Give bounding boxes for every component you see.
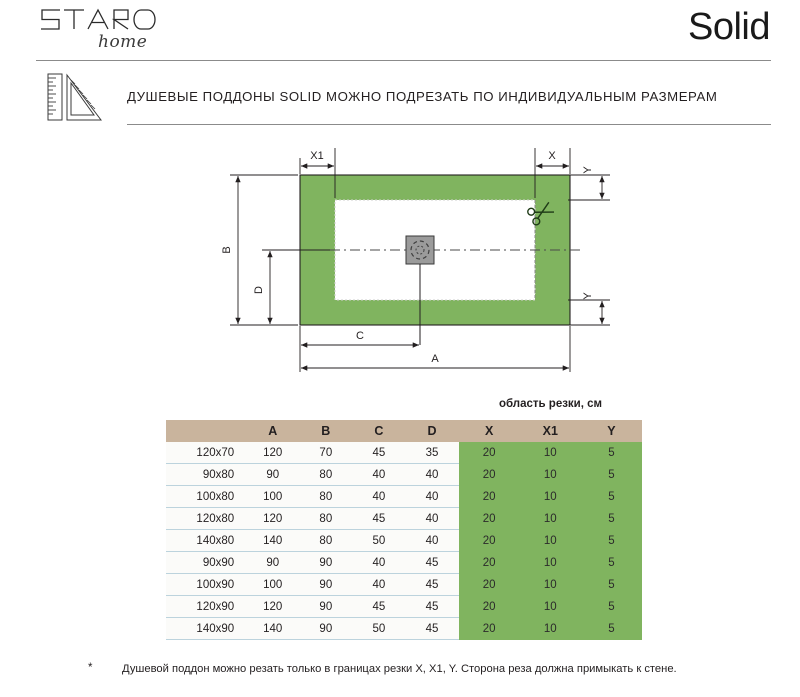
cell-x: 20 [459, 574, 520, 596]
dim-label-x: X [548, 150, 556, 162]
cell-size: 120x80 [166, 508, 246, 530]
cell-x: 20 [459, 464, 520, 486]
cell-x: 20 [459, 442, 520, 464]
cell-a: 90 [246, 552, 299, 574]
table-row: 100x8010080404020105 [166, 486, 642, 508]
cell-x1: 10 [520, 508, 581, 530]
column-header-x: X [459, 420, 520, 442]
brand-title: Solid [688, 6, 770, 49]
cell-a: 140 [246, 530, 299, 552]
cell-a: 100 [246, 486, 299, 508]
cell-y: 5 [581, 618, 642, 640]
cell-x1: 10 [520, 574, 581, 596]
cell-d: 40 [405, 508, 458, 530]
dim-label-c: C [356, 330, 364, 342]
cell-x1: 10 [520, 618, 581, 640]
cell-b: 80 [299, 464, 352, 486]
cell-x1: 10 [520, 464, 581, 486]
cell-a: 120 [246, 508, 299, 530]
cell-c: 45 [352, 508, 405, 530]
cell-x: 20 [459, 530, 520, 552]
cell-y: 5 [581, 530, 642, 552]
table-body: 120x701207045352010590x80908040402010510… [166, 442, 642, 640]
cell-y: 5 [581, 552, 642, 574]
cell-c: 50 [352, 618, 405, 640]
subtitle-text: ДУШЕВЫЕ ПОДДОНЫ SOLID МОЖНО ПОДРЕЗАТЬ ПО… [127, 89, 717, 104]
cell-x: 20 [459, 596, 520, 618]
cell-b: 90 [299, 574, 352, 596]
table-row: 120x8012080454020105 [166, 508, 642, 530]
cell-c: 40 [352, 486, 405, 508]
cell-b: 80 [299, 508, 352, 530]
column-header-d: D [405, 420, 458, 442]
dim-label-b: B [221, 246, 233, 253]
cell-d: 40 [405, 530, 458, 552]
table-row: 120x9012090454520105 [166, 596, 642, 618]
cell-a: 120 [246, 442, 299, 464]
cell-d: 45 [405, 552, 458, 574]
cell-size: 100x80 [166, 486, 246, 508]
column-header-y: Y [581, 420, 642, 442]
cell-c: 40 [352, 464, 405, 486]
table-row: 100x9010090404520105 [166, 574, 642, 596]
table-header-row: A B C D X X1 Y [166, 420, 642, 442]
cell-d: 35 [405, 442, 458, 464]
cell-size: 140x90 [166, 618, 246, 640]
cell-y: 5 [581, 442, 642, 464]
cell-b: 70 [299, 442, 352, 464]
ruler-set-square-icon [44, 71, 106, 123]
cell-x1: 10 [520, 442, 581, 464]
cell-size: 120x90 [166, 596, 246, 618]
dim-label-y-bottom: Y [582, 292, 594, 300]
cell-x: 20 [459, 552, 520, 574]
footnote-text: Душевой поддон можно резать только в гра… [122, 663, 677, 675]
cell-x: 20 [459, 486, 520, 508]
cell-size: 100x90 [166, 574, 246, 596]
cell-b: 80 [299, 486, 352, 508]
cut-zone-caption: область резки, см [459, 398, 642, 410]
dim-label-a: A [431, 353, 439, 365]
header-divider [36, 60, 771, 61]
column-header-a: A [246, 420, 299, 442]
cell-d: 40 [405, 486, 458, 508]
cell-c: 40 [352, 552, 405, 574]
cell-y: 5 [581, 486, 642, 508]
cell-c: 45 [352, 596, 405, 618]
cell-c: 50 [352, 530, 405, 552]
cell-x1: 10 [520, 596, 581, 618]
column-header-size [166, 420, 246, 442]
cell-size: 90x80 [166, 464, 246, 486]
table-row: 90x809080404020105 [166, 464, 642, 486]
brand-logo: home [36, 6, 186, 54]
cell-x1: 10 [520, 486, 581, 508]
cell-y: 5 [581, 508, 642, 530]
dim-label-x1: X1 [310, 150, 323, 162]
subtitle-divider [127, 124, 771, 125]
cell-d: 45 [405, 574, 458, 596]
footnote-marker: * [88, 662, 92, 674]
column-header-x1: X1 [520, 420, 581, 442]
specification-table: A B C D X X1 Y 120x701207045352010590x80… [166, 420, 642, 640]
cell-a: 140 [246, 618, 299, 640]
cell-size: 140x80 [166, 530, 246, 552]
cell-b: 90 [299, 596, 352, 618]
cell-y: 5 [581, 574, 642, 596]
cell-d: 45 [405, 618, 458, 640]
table-row: 90x909090404520105 [166, 552, 642, 574]
cell-size: 90x90 [166, 552, 246, 574]
cell-b: 80 [299, 530, 352, 552]
logo-subtext: home [98, 32, 147, 52]
cell-y: 5 [581, 464, 642, 486]
cell-x: 20 [459, 618, 520, 640]
cell-x1: 10 [520, 530, 581, 552]
cell-x: 20 [459, 508, 520, 530]
cell-y: 5 [581, 596, 642, 618]
subtitle-band: ДУШЕВЫЕ ПОДДОНЫ SOLID МОЖНО ПОДРЕЗАТЬ ПО… [0, 62, 800, 130]
cell-d: 45 [405, 596, 458, 618]
dim-label-y-top: Y [582, 166, 594, 174]
cell-a: 100 [246, 574, 299, 596]
table-row: 140x8014080504020105 [166, 530, 642, 552]
shower-tray-diagram: X1 X Y Y B D C A [210, 140, 630, 380]
cell-d: 40 [405, 464, 458, 486]
column-header-c: C [352, 420, 405, 442]
cell-b: 90 [299, 552, 352, 574]
page-header: home Solid [0, 0, 800, 62]
cell-a: 120 [246, 596, 299, 618]
table-row: 120x7012070453520105 [166, 442, 642, 464]
cell-size: 120x70 [166, 442, 246, 464]
cell-x1: 10 [520, 552, 581, 574]
dim-label-d: D [253, 286, 265, 294]
cell-c: 40 [352, 574, 405, 596]
table-row: 140x9014090504520105 [166, 618, 642, 640]
cell-a: 90 [246, 464, 299, 486]
cell-b: 90 [299, 618, 352, 640]
column-header-b: B [299, 420, 352, 442]
cell-c: 45 [352, 442, 405, 464]
